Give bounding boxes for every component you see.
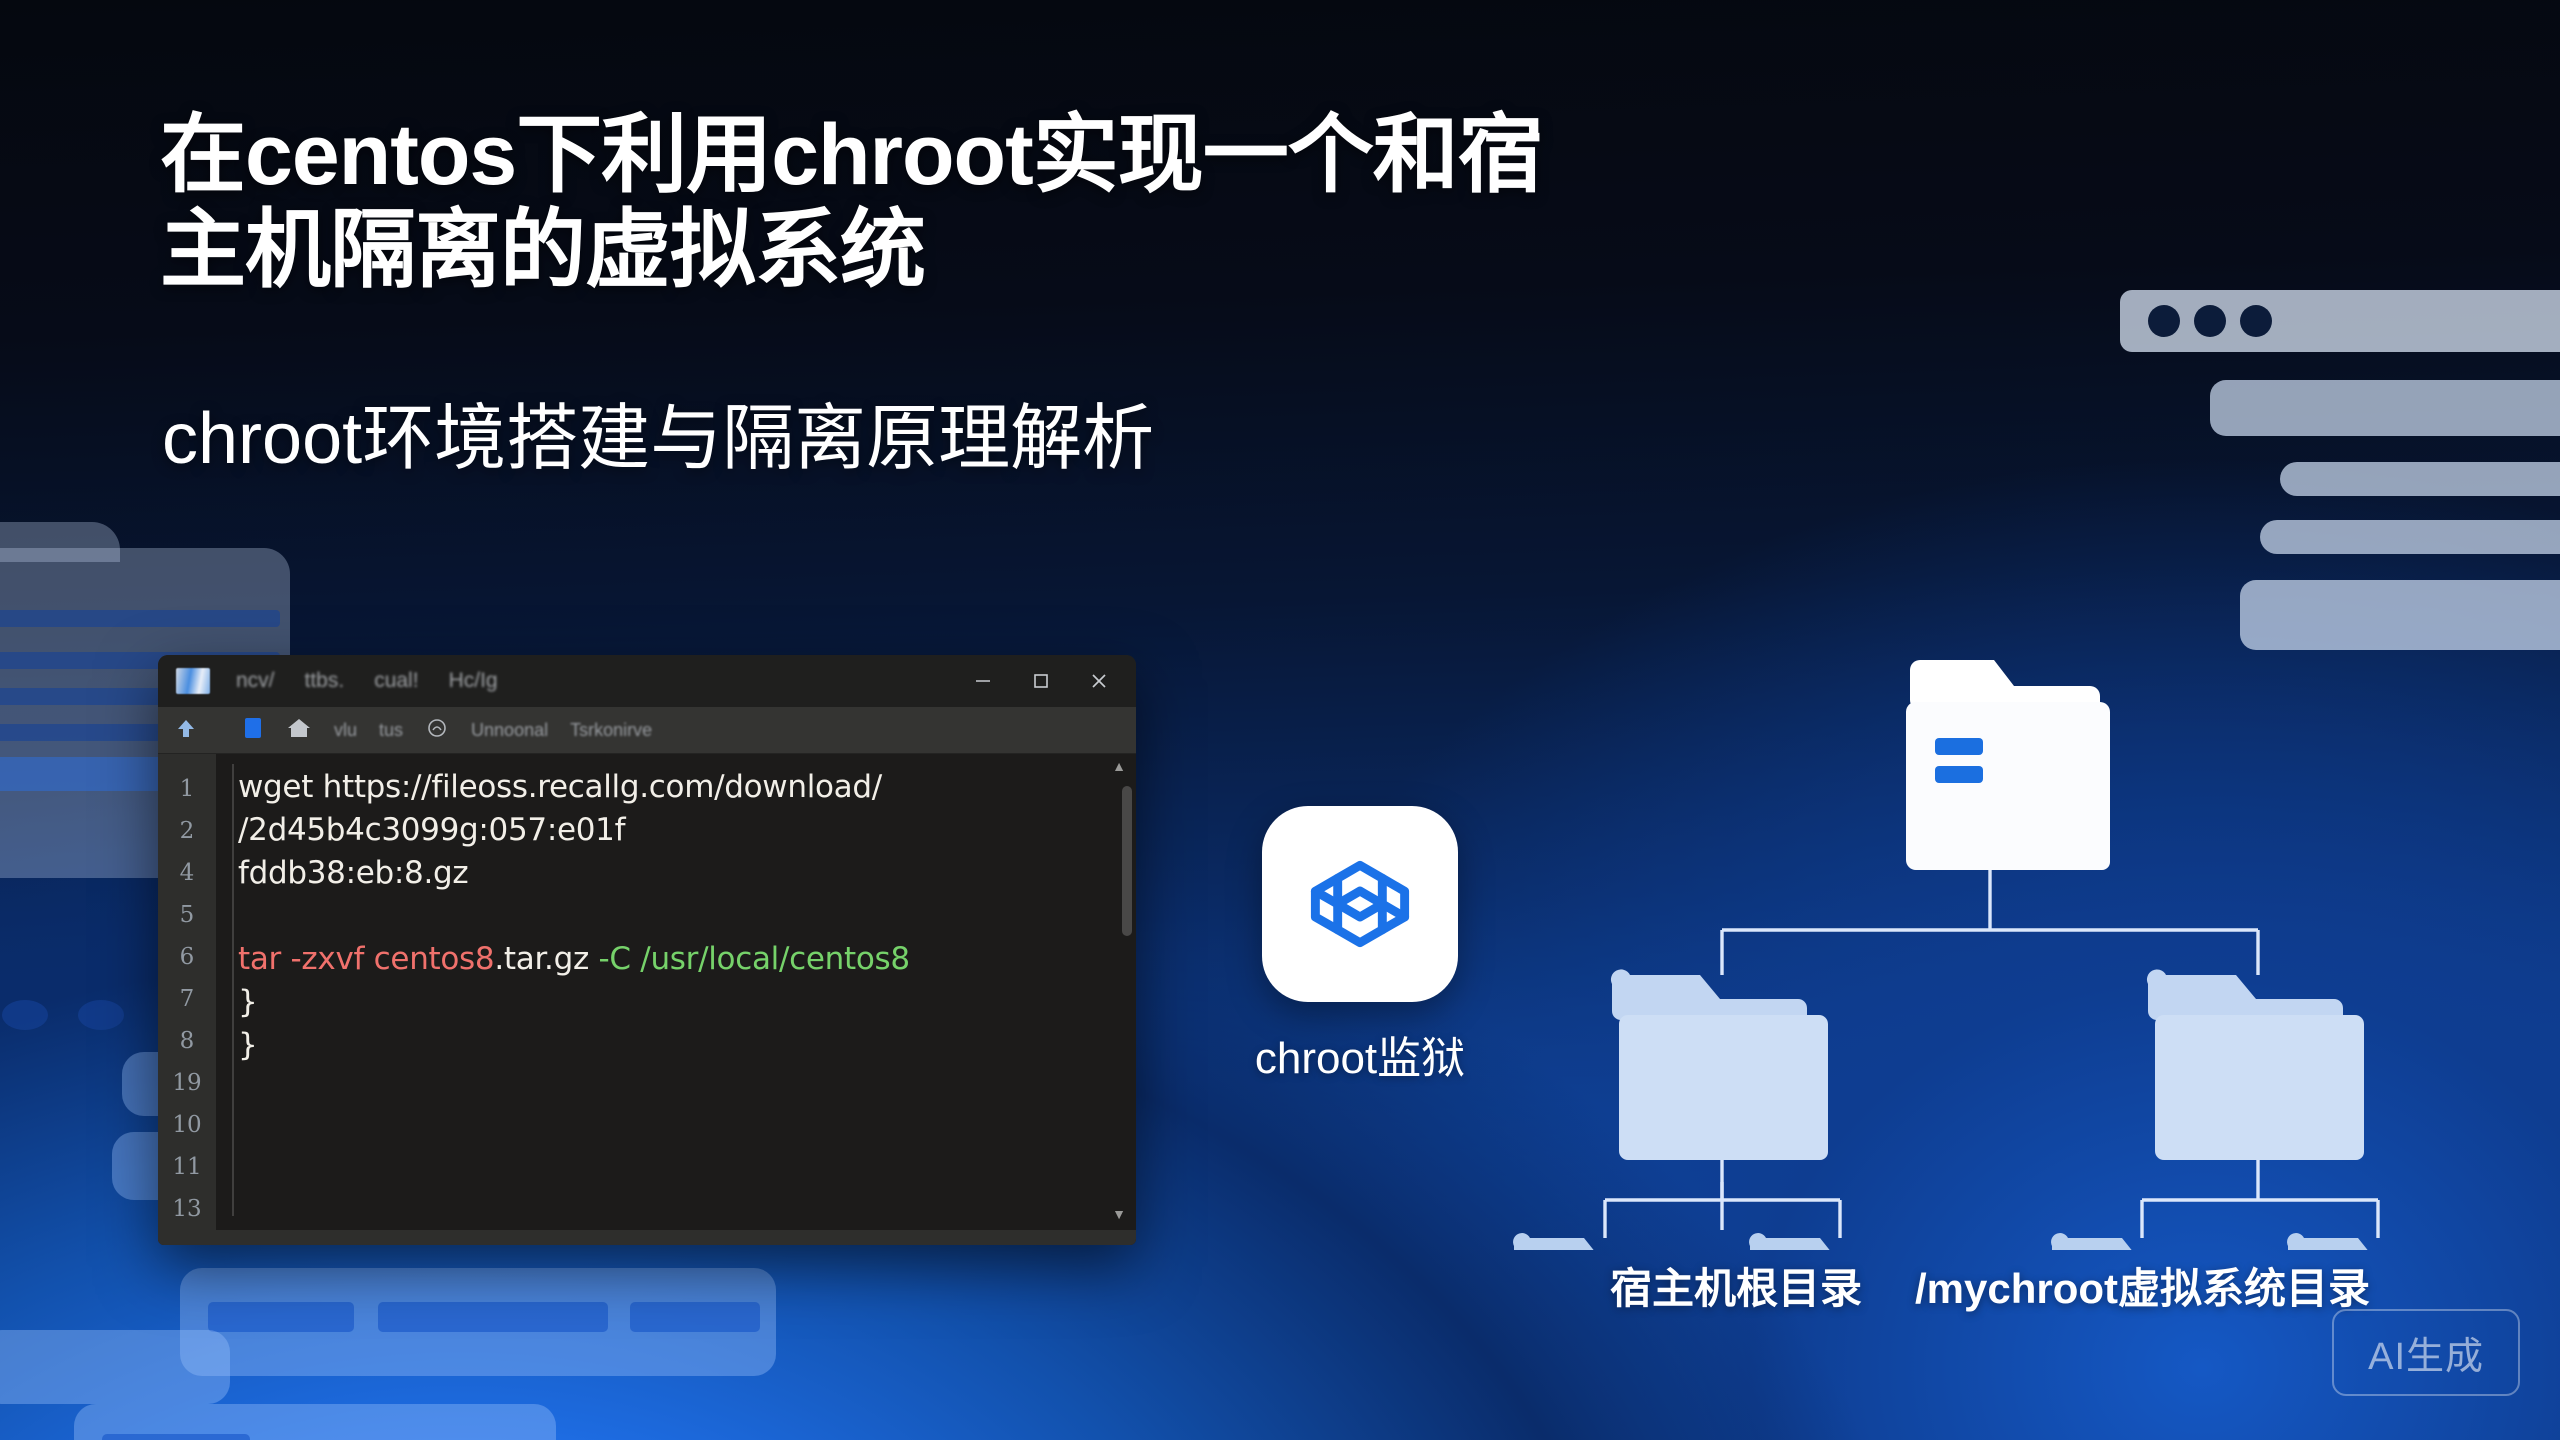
line-number-gutter: 12456781910111313 [158,754,216,1245]
line-number: 2 [180,810,195,852]
folder-icon [1749,1233,1921,1250]
minimize-icon [972,670,994,692]
menu-item-3[interactable]: Hc/Ig [449,669,498,693]
openai-app-badge[interactable] [1262,806,1458,1002]
minimize-button[interactable] [954,655,1012,707]
decor-pill-4 [74,1404,556,1440]
code-token: -C /usr/local/centos8 [599,941,910,977]
menu-item-2[interactable]: cual! [374,669,418,693]
page-subtitle: chroot环境搭建与隔离原理解析 [162,400,2162,479]
folder-icon [1513,1233,1685,1250]
decor-pill-5 [0,1330,230,1404]
maximize-icon [1030,670,1052,692]
decor-browser-dot-1 [2148,305,2180,337]
scroll-down-arrow[interactable]: ▼ [1112,1206,1126,1222]
close-button[interactable] [1070,655,1128,707]
decor-browser-row-3 [2260,520,2560,554]
code-line: } [238,981,1136,1024]
tree-label-host-root: 宿主机根目录 [1610,1255,1862,1316]
toolbar-label-0[interactable]: vlu [334,720,357,741]
tree-label-mychroot: /mychroot虚拟系统目录 [1915,1255,2370,1316]
code-token: fddb38:eb:8.gz [238,855,468,891]
scrollbar-thumb[interactable] [1122,786,1132,936]
window-controls[interactable] [954,655,1128,707]
ai-generated-badge: AI生成 [2332,1309,2520,1396]
decor-browser-titlebar [2120,290,2560,352]
line-number: 1 [180,768,195,810]
folder-icon [2051,1233,2223,1250]
folder-root-icon [1906,660,2110,870]
editor-scrollbar[interactable]: ▲ ▼ [1122,760,1132,1220]
line-number: 11 [172,1146,201,1188]
terminal-body[interactable]: 12456781910111313 wget https://fileoss.r… [158,754,1136,1245]
scroll-up-arrow[interactable]: ▲ [1112,758,1126,774]
toolbar-label-1[interactable]: tus [379,720,403,741]
terminal-statusbar [158,1230,1136,1245]
page-title: 在centos下利用chroot实现一个和宿主机隔离的虚拟系统 [160,108,2160,297]
menu-item-1[interactable]: ttbs. [305,669,345,693]
terminal-menubar[interactable]: ncv/ ttbs. cual! Hc/Ig [236,669,498,693]
code-token: tar -zxvf [238,941,374,977]
code-token: centos8 [374,941,495,977]
settings-icon[interactable] [425,716,449,745]
line-number: 8 [180,1020,195,1062]
code-token: } [238,984,257,1020]
code-line: } [238,1024,1136,1067]
folder-tree-diagram [1490,630,2490,1250]
code-line: tar -zxvf centos8.tar.gz -C /usr/local/c… [238,938,1136,981]
decor-pill-3 [180,1268,776,1376]
arrow-up-icon[interactable] [174,716,198,745]
folder-icon [2287,1233,2459,1250]
line-number: 5 [180,894,195,936]
poster-canvas: 在centos下利用chroot实现一个和宿主机隔离的虚拟系统 chroot环境… [0,0,2560,1440]
line-number: 19 [172,1062,201,1104]
code-lines: wget https://fileoss.recallg.com/downloa… [238,766,1136,1067]
line-number: 4 [180,852,195,894]
code-line: /2d45b4c3099g:057:e01f [238,809,1136,852]
decor-browser-row-1 [2210,380,2560,436]
toolbar-label-2[interactable]: Unnoonal [471,720,548,741]
maximize-button[interactable] [1012,655,1070,707]
decor-dot-2 [78,1000,124,1030]
page-title-line-1: 在centos下利用chroot实现一个和宿 [160,107,1543,203]
line-number: 7 [180,978,195,1020]
code-line: fddb38:eb:8.gz [238,852,1136,895]
decor-browser-dot-3 [2240,305,2272,337]
toolbar-label-3[interactable]: Tsrkonirve [570,720,652,741]
decor-browser-dot-2 [2194,305,2226,337]
close-icon [1088,670,1110,692]
code-editor[interactable]: wget https://fileoss.recallg.com/downloa… [216,754,1136,1245]
home-icon[interactable] [286,716,312,745]
terminal-titlebar[interactable]: ncv/ ttbs. cual! Hc/Ig [158,655,1136,707]
indent-guide [232,764,234,1216]
line-number: 10 [172,1104,201,1146]
folder-icon [2147,969,2364,1160]
line-number: 6 [180,936,195,978]
code-token: } [238,1027,257,1063]
code-line: wget https://fileoss.recallg.com/downloa… [238,766,1136,809]
decor-dot-1 [2,1000,48,1030]
decor-browser-row-2 [2280,462,2560,496]
code-token: /2d45b4c3099g:057:e01f [238,812,625,848]
page-title-line-2: 主机隔离的虚拟系统 [160,202,925,298]
code-token: wget https://fileoss.recallg.com/downloa… [238,769,882,805]
vscode-logo-icon [176,668,210,694]
openai-logo-icon [1292,836,1428,972]
terminal-window[interactable]: ncv/ ttbs. cual! Hc/Ig [158,655,1136,1245]
file-icon[interactable] [242,716,264,745]
menu-item-0[interactable]: ncv/ [236,669,275,693]
code-token: .tar.gz [494,941,598,977]
code-line [238,895,1136,938]
folder-tree-svg [1490,630,2490,1250]
folder-icon [1611,969,1828,1160]
line-number: 13 [172,1188,201,1230]
terminal-toolbar[interactable]: vlu tus Unnoonal Tsrkonirve [158,707,1136,754]
